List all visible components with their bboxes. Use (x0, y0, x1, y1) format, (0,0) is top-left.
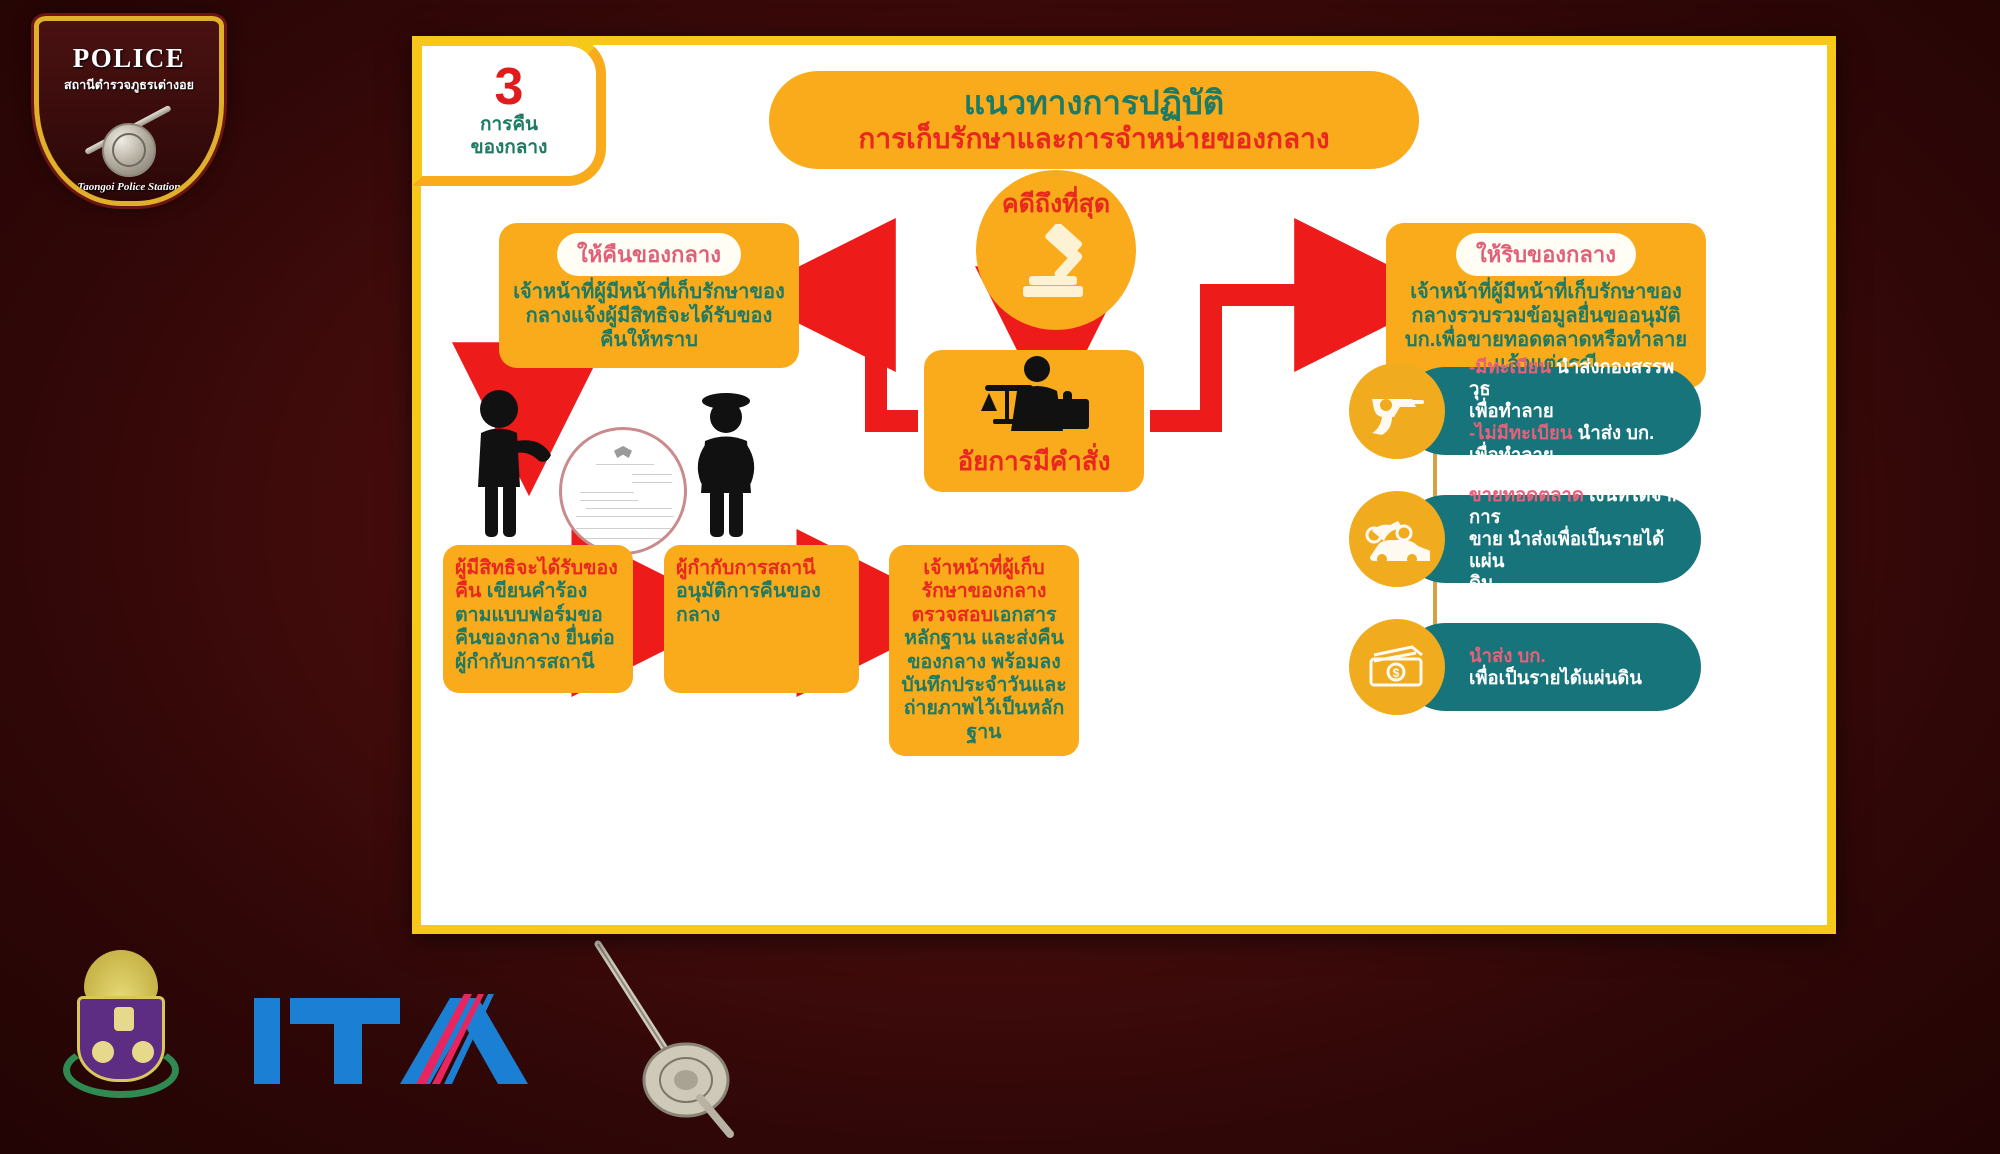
disposal-bar-revenue-text: นำส่ง บก. เพื่อเป็นรายได้แผ่นดิน (1469, 645, 1642, 689)
forfeit-evidence-heading: ให้ริบของกลาง (1456, 233, 1636, 276)
bottom-step-card-3: เจ้าหน้าที่ผู้เก็บรักษาของกลาง ตรวจสอบเอ… (889, 545, 1079, 756)
gavel-icon (1013, 224, 1099, 300)
badge-station-thai-text: สถานีตำรวจภูธรเต่างอย (39, 75, 219, 95)
disposal-bar-vehicles: ขายทอดตลาด เงินที่ได้จากการ ขาย นำส่งเพื… (1401, 495, 1701, 583)
badge-police-text: POLICE (39, 43, 219, 74)
prosecutor-order-label: อัยการมีคำสั่ง (958, 441, 1111, 482)
bottom-step-2-highlight: ผู้กำกับการสถานี (676, 557, 816, 579)
step-label-line1: การคืน (480, 113, 538, 136)
return-evidence-card: ให้คืนของกลาง เจ้าหน้าที่ผู้มีหน้าที่เก็… (499, 223, 799, 368)
banknote-icon: $ (1349, 619, 1445, 715)
seal-shield-icon (77, 996, 165, 1082)
prosecutor-icon (971, 355, 1097, 439)
vehicles-icon (1349, 491, 1445, 587)
step-badge: 3 การคืน ของกลาง (412, 36, 606, 186)
badge-emblem-icon (86, 117, 172, 183)
disposal-bar-weapons: -มีทะเบียน นำส่งกองสรรพวุธ เพื่อทำลาย -ไ… (1401, 367, 1701, 455)
title-main-text: แนวทางการปฏิบัติ (964, 85, 1224, 121)
final-case-circle: คดีถึงที่สุด (976, 170, 1136, 330)
revolver-icon (1349, 363, 1445, 459)
svg-text:$: $ (1393, 666, 1400, 680)
ceremonial-sword-image: กระบี่ (580, 938, 740, 1138)
poster-title: แนวทางการปฏิบัติ การเก็บรักษาและการจำหน่… (769, 71, 1419, 169)
bottom-step-card-2: ผู้กำกับการสถานี อนุมัติการคืนของกลาง (664, 545, 859, 693)
screenshot-root: POLICE สถานีตำรวจภูธรเต่างอย Taongoi Pol… (0, 0, 2000, 1154)
infographic-poster: 3 การคืน ของกลาง แนวทางการปฏิบัติ การเก็… (412, 36, 1836, 934)
police-station-badge: POLICE สถานีตำรวจภูธรเต่างอย Taongoi Pol… (34, 16, 224, 206)
bottom-step-2-rest: อนุมัติการคืนของกลาง (676, 580, 821, 625)
badge-station-en-text: Taongoi Police Station (39, 181, 219, 193)
return-evidence-body: เจ้าหน้าที่ผู้มีหน้าที่เก็บรักษาของกลางแ… (511, 280, 787, 352)
ita-logo: ITA (250, 980, 545, 1100)
final-case-label: คดีถึงที่สุด (1002, 184, 1110, 224)
badge-shield-shape: POLICE สถานีตำรวจภูธรเต่างอย Taongoi Pol… (34, 16, 224, 206)
prosecutor-order-card: อัยการมีคำสั่ง (924, 350, 1144, 492)
disposal-bar-revenue: $ นำส่ง บก. เพื่อเป็นรายได้แผ่นดิน (1401, 623, 1701, 711)
step-number: 3 (495, 63, 524, 112)
citizen-figure-icon (469, 387, 561, 539)
disposal-bar-vehicles-text: ขายทอดตลาด เงินที่ได้จากการ ขาย นำส่งเพื… (1469, 484, 1685, 593)
poster-canvas: 3 การคืน ของกลาง แนวทางการปฏิบัติ การเก็… (421, 45, 1827, 925)
request-form-document-icon (559, 427, 687, 555)
step-label-line2: ของกลาง (471, 136, 548, 159)
title-sub-text: การเก็บรักษาและการจำหน่ายของกลาง (858, 123, 1329, 154)
police-officer-figure-icon (683, 385, 769, 539)
government-seal-logo: ตราราชการ (58, 950, 184, 1102)
return-evidence-heading: ให้คืนของกลาง (557, 233, 741, 276)
bottom-step-card-1: ผู้มีสิทธิจะได้รับของคืน เขียนคำร้องตามแ… (443, 545, 633, 693)
disposal-bar-weapons-text: -มีทะเบียน นำส่งกองสรรพวุธ เพื่อทำลาย -ไ… (1469, 356, 1685, 465)
